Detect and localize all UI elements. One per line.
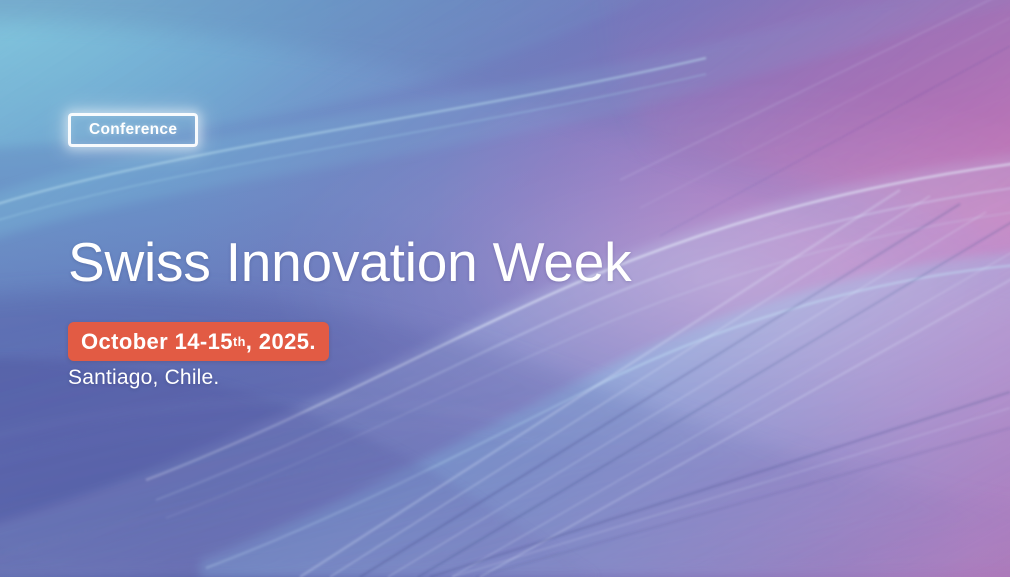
conference-banner: Conference Swiss Innovation Week October… bbox=[0, 0, 1010, 577]
event-date-suffix: , 2025. bbox=[246, 329, 316, 355]
event-location: Santiago, Chile. bbox=[68, 366, 219, 390]
event-date-prefix: October 14-15 bbox=[81, 329, 233, 355]
event-title: Swiss Innovation Week bbox=[68, 235, 631, 290]
event-date-badge: October 14-15th, 2025. bbox=[68, 322, 329, 361]
banner-content: Conference Swiss Innovation Week October… bbox=[68, 0, 688, 577]
conference-badge: Conference bbox=[68, 113, 198, 147]
